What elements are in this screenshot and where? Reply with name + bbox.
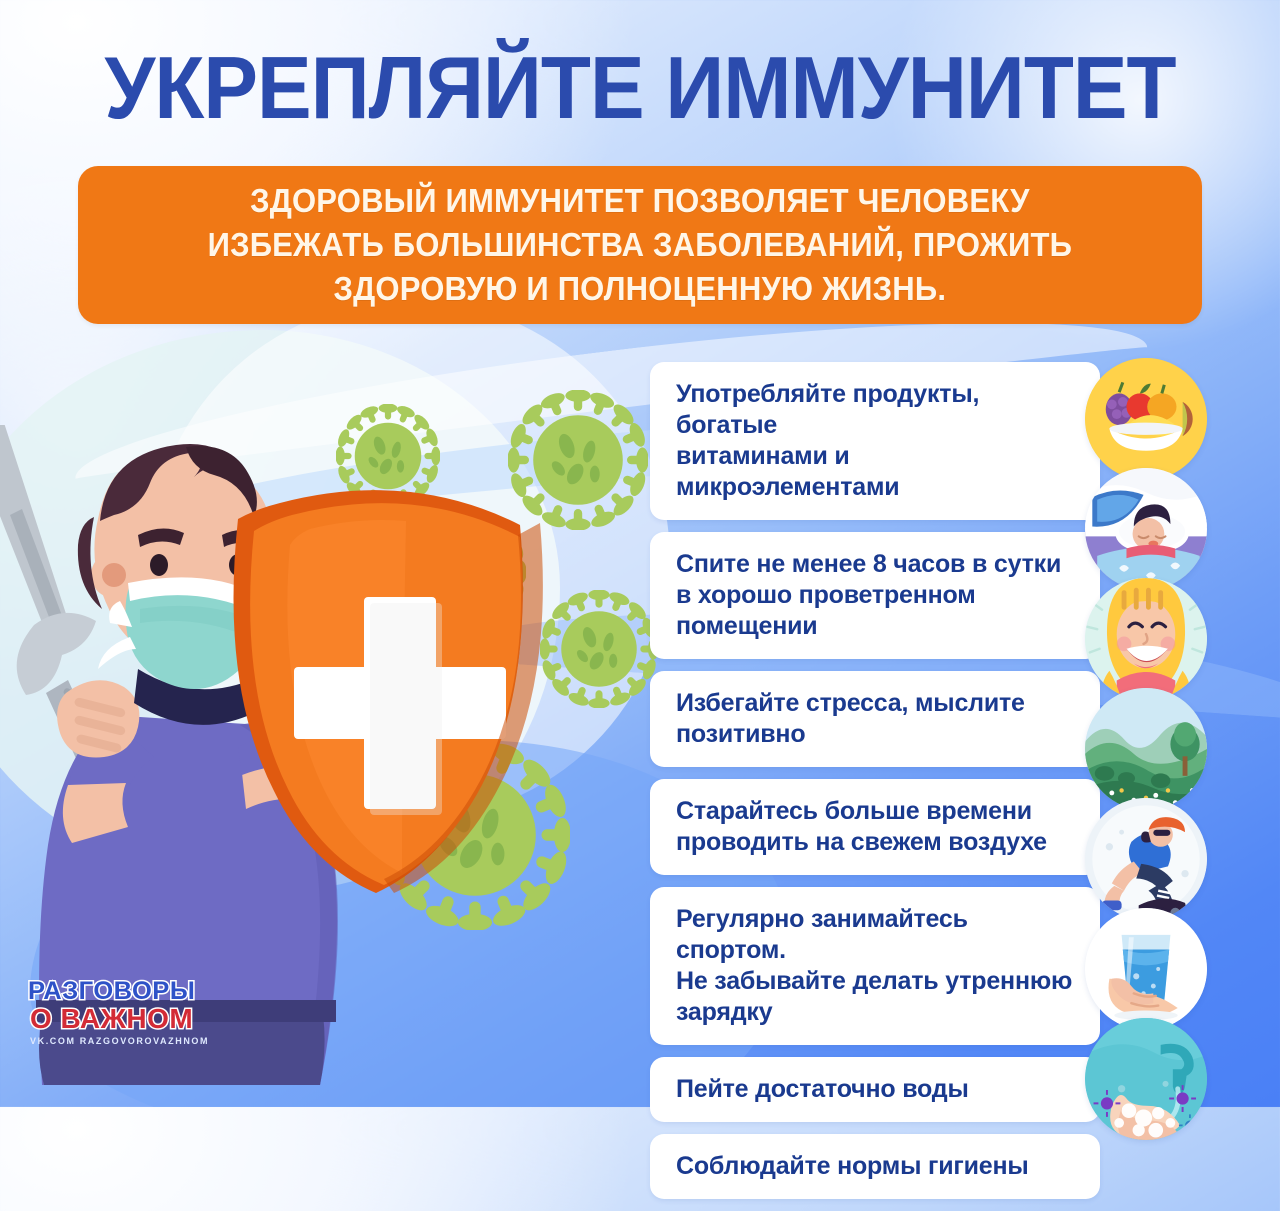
tip-icons-column bbox=[1085, 358, 1215, 1128]
handwashing-icon bbox=[1085, 1018, 1207, 1140]
highlight-banner: ЗДОРОВЫЙ ИММУНИТЕТ ПОЗВОЛЯЕТ ЧЕЛОВЕКУ ИЗ… bbox=[78, 166, 1202, 324]
tip-card: Старайтесь больше времени проводить на с… bbox=[650, 779, 1100, 875]
tip-text: Употребляйте продукты, богатые витаминам… bbox=[676, 379, 1074, 503]
tip-text: Регулярно занимайтесь спортом. Не забыва… bbox=[676, 904, 1074, 1028]
sleeping-person-icon bbox=[1085, 468, 1207, 590]
fruit-bowl-icon bbox=[1085, 358, 1207, 480]
tip-card: Употребляйте продукты, богатые витаминам… bbox=[650, 362, 1100, 520]
banner-line-3: ЗДОРОВУЮ И ПОЛНОЦЕННУЮ ЖИЗНЬ. bbox=[208, 267, 1073, 311]
water-glass-icon bbox=[1085, 908, 1207, 1030]
nature-landscape-icon bbox=[1085, 688, 1207, 810]
logo-line-2: О ВАЖНОМ bbox=[30, 1004, 230, 1033]
tip-text: Старайтесь больше времени проводить на с… bbox=[676, 796, 1047, 858]
banner-line-1: ЗДОРОВЫЙ ИММУНИТЕТ ПОЗВОЛЯЕТ ЧЕЛОВЕКУ bbox=[208, 179, 1073, 223]
tips-list: Употребляйте продукты, богатые витаминам… bbox=[650, 362, 1100, 1211]
brand-logo: РАЗГОВОРЫ О ВАЖНОМ VK.COM RAZGOVOROVAZHN… bbox=[30, 978, 230, 1046]
tip-text: Спите не менее 8 часов в сутки в хорошо … bbox=[676, 549, 1061, 642]
smiling-woman-icon bbox=[1085, 578, 1207, 700]
tip-text: Соблюдайте нормы гигиены bbox=[676, 1151, 1029, 1182]
tip-card: Пейте достаточно воды bbox=[650, 1057, 1100, 1122]
logo-url: VK.COM RAZGOVOROVAZHNOM bbox=[30, 1036, 230, 1046]
tip-card: Соблюдайте нормы гигиены bbox=[650, 1134, 1100, 1199]
tip-card: Регулярно занимайтесь спортом. Не забыва… bbox=[650, 887, 1100, 1045]
banner-text: ЗДОРОВЫЙ ИММУНИТЕТ ПОЗВОЛЯЕТ ЧЕЛОВЕКУ ИЗ… bbox=[208, 179, 1073, 311]
skateboarder-icon bbox=[1085, 798, 1207, 920]
tip-card: Спите не менее 8 часов в сутки в хорошо … bbox=[650, 532, 1100, 659]
page-title: УКРЕПЛЯЙТЕ ИММУНИТЕТ bbox=[45, 40, 1235, 136]
tip-text: Избегайте стресса, мыслите позитивно bbox=[676, 688, 1025, 750]
logo-line-1: РАЗГОВОРЫ bbox=[28, 978, 232, 1004]
tip-card: Избегайте стресса, мыслите позитивно bbox=[650, 671, 1100, 767]
banner-line-2: ИЗБЕЖАТЬ БОЛЬШИНСТВА ЗАБОЛЕВАНИЙ, ПРОЖИТ… bbox=[208, 223, 1073, 267]
tip-text: Пейте достаточно воды bbox=[676, 1074, 969, 1105]
